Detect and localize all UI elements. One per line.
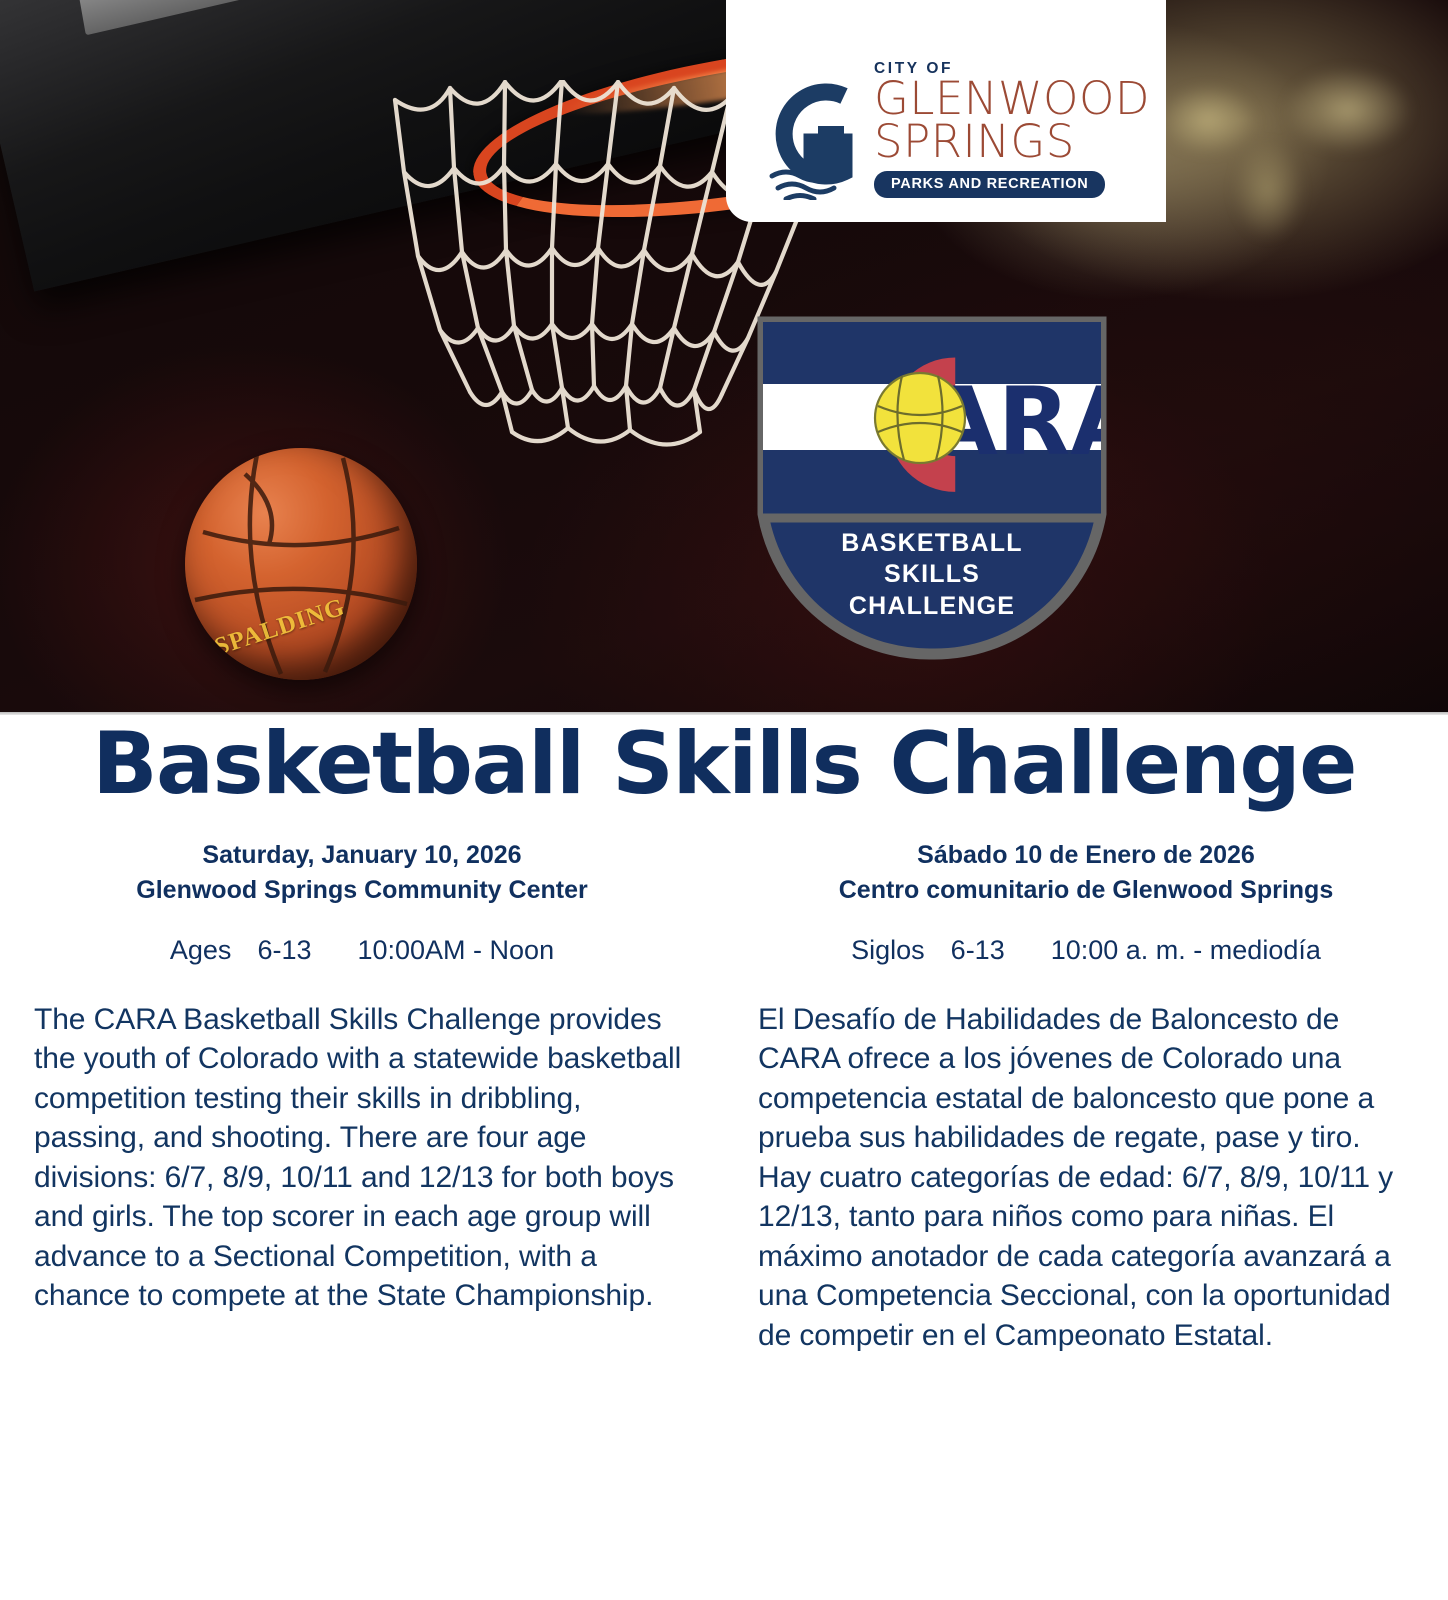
glenwood-g-icon: [748, 68, 868, 200]
ages-value-es: 6-13: [951, 935, 1005, 965]
cara-shield-logo: ARA BASKETBALL SKILLS CHALLENGE: [747, 306, 1117, 670]
parks-recreation-badge: PARKS AND RECREATION: [874, 171, 1105, 198]
description-en: The CARA Basketball Skills Challenge pro…: [34, 1000, 690, 1316]
content-columns: Saturday, January 10, 2026 Glenwood Spri…: [0, 838, 1448, 1355]
cara-subtitle: BASKETBALL SKILLS CHALLENGE: [747, 528, 1117, 622]
hero-photo: SPALDING: [0, 0, 1448, 714]
city-logo-card: CITY OF GLENWOOD SPRINGS PARKS AND RECRE…: [726, 0, 1166, 222]
event-time-en: 10:00AM - Noon: [357, 935, 554, 965]
city-name-line2: SPRINGS: [874, 119, 1150, 164]
city-name-line1: GLENWOOD: [874, 78, 1150, 119]
ages-time-row-en: Ages6-1310:00AM - Noon: [34, 935, 690, 966]
event-venue-en: Glenwood Springs Community Center: [34, 873, 690, 908]
cara-sub-line3: CHALLENGE: [747, 591, 1117, 622]
column-english: Saturday, January 10, 2026 Glenwood Spri…: [0, 838, 724, 1355]
basketball: SPALDING: [185, 448, 417, 680]
ages-value-en: 6-13: [257, 935, 311, 965]
backboard-padding: [72, 0, 310, 35]
page-title: Basketball Skills Challenge: [0, 714, 1448, 814]
column-spanish: Sábado 10 de Enero de 2026 Centro comuni…: [724, 838, 1448, 1355]
ages-label-es: Siglos: [851, 935, 925, 965]
description-es: El Desafío de Habilidades de Baloncesto …: [758, 1000, 1414, 1355]
cara-sub-line1: BASKETBALL: [747, 528, 1117, 559]
ages-label-en: Ages: [170, 935, 232, 965]
event-date-es: Sábado 10 de Enero de 2026: [758, 838, 1414, 873]
event-time-es: 10:00 a. m. - mediodía: [1051, 935, 1321, 965]
cara-sub-line2: SKILLS: [747, 559, 1117, 590]
event-date-en: Saturday, January 10, 2026: [34, 838, 690, 873]
crowd-background: [1118, 0, 1448, 330]
ages-time-row-es: Siglos6-1310:00 a. m. - mediodía: [758, 935, 1414, 966]
event-venue-es: Centro comunitario de Glenwood Springs: [758, 873, 1414, 908]
